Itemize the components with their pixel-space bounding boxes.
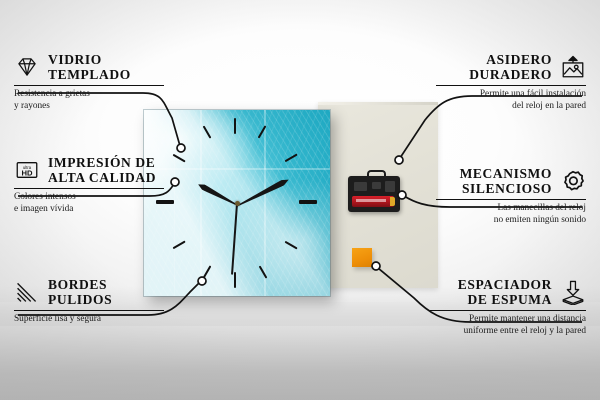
feature-title: IMPRESIÓN DE ALTA CALIDAD — [48, 155, 156, 185]
feature-vidrio-templado: VIDRIO TEMPLADO Resistencia a grietas y … — [14, 52, 164, 112]
feature-rule — [14, 188, 164, 189]
clock-tick-3 — [299, 200, 317, 204]
feature-rule — [430, 310, 586, 311]
ultra-hd-icon: ultra HD — [14, 157, 40, 183]
polished-edges-icon — [14, 279, 40, 305]
mechanism-detail-b — [372, 182, 381, 189]
feature-description: Las manecillas del reloj no emiten ningú… — [436, 203, 586, 226]
feature-title: MECANISMO SILENCIOSO — [460, 166, 552, 196]
gear-icon — [560, 168, 586, 194]
feature-description: Resistencia a grietas y rayones — [14, 89, 164, 112]
feature-asidero-duradero: ASIDERO DURADERO Permite una fácil insta… — [436, 52, 586, 112]
clock-center-pivot — [235, 201, 240, 206]
wall-panel-edge — [318, 102, 438, 105]
feature-bordes-pulidos: BORDES PULIDOS Superficie lisa y segura — [14, 277, 164, 326]
infographic-canvas: VIDRIO TEMPLADO Resistencia a grietas y … — [0, 0, 600, 400]
foam-spacer-pad — [352, 248, 372, 267]
feature-title: ESPACIADOR DE ESPUMA — [458, 277, 552, 307]
feature-description: Permite mantener una distancia uniforme … — [430, 314, 586, 337]
quartz-clock-mechanism — [348, 170, 400, 212]
feature-rule — [436, 199, 586, 200]
feature-title: ASIDERO DURADERO — [469, 52, 552, 82]
battery-label — [356, 199, 386, 202]
feature-rule — [14, 310, 164, 311]
square-glass-wall-clock — [144, 110, 330, 296]
feature-espaciador-de-espuma: ESPACIADOR DE ESPUMA Permite mantener un… — [430, 277, 586, 337]
feature-title: VIDRIO TEMPLADO — [48, 52, 131, 82]
feature-rule — [14, 85, 164, 86]
mechanism-detail-a — [354, 182, 367, 191]
mechanism-detail-c — [385, 181, 395, 192]
feature-title: BORDES PULIDOS — [48, 277, 112, 307]
diamond-icon — [14, 54, 40, 80]
feature-rule — [436, 85, 586, 86]
feature-impresion-alta-calidad: ultra HD IMPRESIÓN DE ALTA CALIDAD Color… — [14, 155, 164, 215]
feature-description: Colores intensos e imagen vívida — [14, 192, 164, 215]
feature-description: Superficie lisa y segura — [14, 314, 164, 325]
battery-positive-cap — [390, 197, 395, 206]
svg-text:HD: HD — [21, 168, 33, 177]
wall-hanging-icon — [560, 54, 586, 80]
feature-description: Permite una fácil instalación del reloj … — [436, 89, 586, 112]
foam-spacer-icon — [560, 279, 586, 305]
feature-mecanismo-silencioso: MECANISMO SILENCIOSO Las manecillas del … — [436, 166, 586, 226]
